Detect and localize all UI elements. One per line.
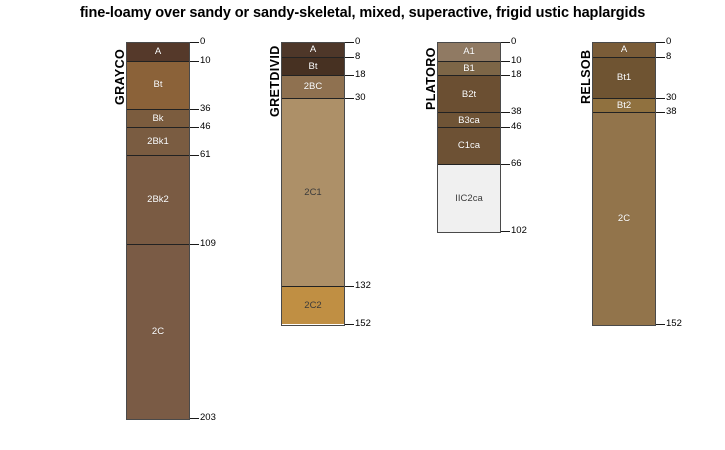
horizon-relsob-bt2[interactable]: Bt2: [593, 99, 655, 114]
depth-tick: [190, 418, 199, 419]
depth-label: 132: [355, 281, 371, 291]
horizon-label: 2C1: [304, 188, 321, 198]
depth-label: 8: [666, 52, 671, 62]
depth-tick: [501, 42, 510, 43]
horizon-gretdivid-2c2[interactable]: 2C2: [282, 287, 344, 324]
depth-label: 0: [200, 37, 205, 47]
horizon-gretdivid-2c1[interactable]: 2C1: [282, 99, 344, 288]
depth-label: 61: [200, 150, 211, 160]
horizon-relsob-a[interactable]: A: [593, 43, 655, 58]
depth-tick: [190, 109, 199, 110]
horizon-label: Bt1: [617, 73, 631, 83]
depth-label: 66: [511, 159, 522, 169]
horizon-label: B1: [463, 64, 475, 74]
depth-label: 0: [666, 37, 671, 47]
horizon-gretdivid-a[interactable]: A: [282, 43, 344, 58]
depth-tick: [501, 75, 510, 76]
depth-label: 152: [355, 319, 371, 329]
depth-tick: [656, 98, 665, 99]
depth-tick: [345, 75, 354, 76]
depth-label: 18: [511, 70, 522, 80]
depth-tick: [656, 112, 665, 113]
depth-tick: [190, 155, 199, 156]
horizon-label: A1: [463, 47, 475, 57]
depth-label: 38: [666, 107, 677, 117]
horizon-label: B2t: [462, 90, 476, 100]
depth-tick: [501, 164, 510, 165]
depth-label: 36: [200, 104, 211, 114]
depth-label: 10: [200, 56, 211, 66]
depth-label: 46: [200, 122, 211, 132]
depth-tick: [345, 42, 354, 43]
horizon-label: Bt2: [617, 101, 631, 111]
depth-label: 152: [666, 319, 682, 329]
depth-label: 203: [200, 413, 216, 423]
profile-column-relsob[interactable]: ABt1Bt22C: [592, 42, 656, 326]
horizon-label: 2BC: [304, 82, 322, 92]
horizon-label: 2C: [618, 214, 630, 224]
depth-label: 8: [355, 52, 360, 62]
depth-tick: [345, 98, 354, 99]
depth-label: 0: [355, 37, 360, 47]
horizon-label: A: [621, 45, 627, 55]
horizon-platoro-b1[interactable]: B1: [438, 62, 500, 77]
horizon-platoro-a1[interactable]: A1: [438, 43, 500, 62]
depth-label: 0: [511, 37, 516, 47]
depth-label: 46: [511, 122, 522, 132]
depth-tick: [190, 61, 199, 62]
pedon-label-gretdivid: GRETDIVID: [268, 45, 282, 117]
depth-label: 38: [511, 107, 522, 117]
depth-tick: [656, 324, 665, 325]
horizon-label: IIC2ca: [455, 194, 482, 204]
depth-tick: [190, 42, 199, 43]
depth-tick: [345, 324, 354, 325]
depth-label: 30: [666, 93, 677, 103]
profile-column-gretdivid[interactable]: ABt2BC2C12C2: [281, 42, 345, 326]
horizon-platoro-c1ca[interactable]: C1ca: [438, 128, 500, 165]
horizon-platoro-b2t[interactable]: B2t: [438, 76, 500, 113]
depth-label: 10: [511, 56, 522, 66]
depth-tick: [501, 61, 510, 62]
horizon-label: 2C2: [304, 301, 321, 311]
pedon-label-platoro: PLATORO: [424, 47, 438, 110]
depth-tick: [501, 112, 510, 113]
horizon-platoro-iic2ca[interactable]: IIC2ca: [438, 165, 500, 232]
horizon-label: Bt: [309, 62, 318, 72]
profile-relsob: RELSOBABt1Bt22C083038152: [0, 0, 180, 450]
horizon-label: B3ca: [458, 116, 480, 126]
depth-tick: [656, 42, 665, 43]
depth-label: 109: [200, 239, 216, 249]
depth-label: 102: [511, 226, 527, 236]
depth-label: 18: [355, 70, 366, 80]
depth-tick: [656, 57, 665, 58]
soil-profile-figure: fine-loamy over sandy or sandy-skeletal,…: [0, 0, 725, 450]
horizon-gretdivid-2bc[interactable]: 2BC: [282, 76, 344, 98]
depth-tick: [345, 57, 354, 58]
profile-column-platoro[interactable]: A1B1B2tB3caC1caIIC2ca: [437, 42, 501, 233]
depth-tick: [345, 286, 354, 287]
horizon-gretdivid-bt[interactable]: Bt: [282, 58, 344, 77]
pedon-label-relsob: RELSOB: [579, 50, 593, 105]
horizon-label: C1ca: [458, 141, 480, 151]
horizon-relsob-2c[interactable]: 2C: [593, 113, 655, 324]
depth-tick: [190, 244, 199, 245]
depth-tick: [501, 127, 510, 128]
depth-tick: [501, 231, 510, 232]
horizon-relsob-bt1[interactable]: Bt1: [593, 58, 655, 99]
depth-tick: [190, 127, 199, 128]
horizon-label: A: [310, 45, 316, 55]
horizon-platoro-b3ca[interactable]: B3ca: [438, 113, 500, 128]
depth-label: 30: [355, 93, 366, 103]
